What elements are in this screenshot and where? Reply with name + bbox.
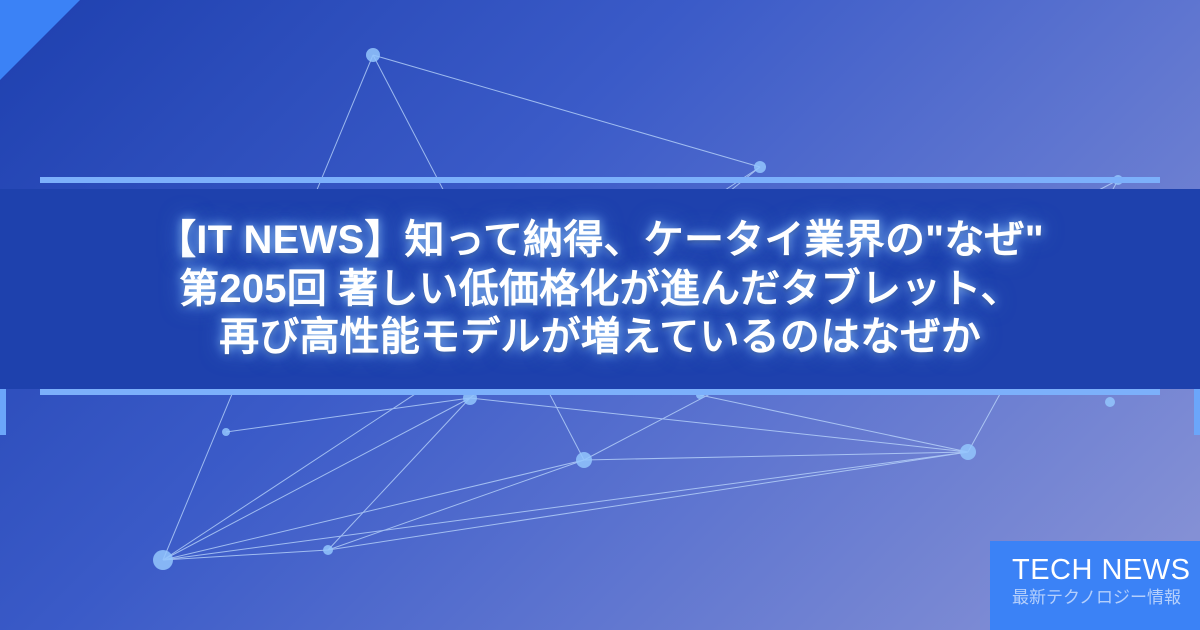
badge-title: TECH NEWS (1012, 555, 1182, 585)
bottom-accent-rule (40, 389, 1160, 395)
badge-subtitle: 最新テクノロジー情報 (1012, 587, 1182, 608)
left-edge-accent (0, 389, 6, 435)
page-title: 【IT NEWS】知って納得、ケータイ業界の"なぜ" 第205回 著しい低価格化… (0, 216, 1200, 362)
top-accent-rule (40, 177, 1160, 183)
headline-line-2: 第205回 著しい低価格化が進んだタブレット、 (24, 265, 1176, 314)
news-ogp-card: 【IT NEWS】知って納得、ケータイ業界の"なぜ" 第205回 著しい低価格化… (0, 0, 1200, 630)
tech-news-badge: TECH NEWS 最新テクノロジー情報 (990, 541, 1200, 630)
headline-line-3: 再び高性能モデルが増えているのはなぜか (24, 313, 1176, 362)
headline-band: 【IT NEWS】知って納得、ケータイ業界の"なぜ" 第205回 著しい低価格化… (0, 189, 1200, 389)
right-edge-accent (1194, 389, 1200, 435)
headline-line-1: 【IT NEWS】知って納得、ケータイ業界の"なぜ" (24, 216, 1176, 265)
